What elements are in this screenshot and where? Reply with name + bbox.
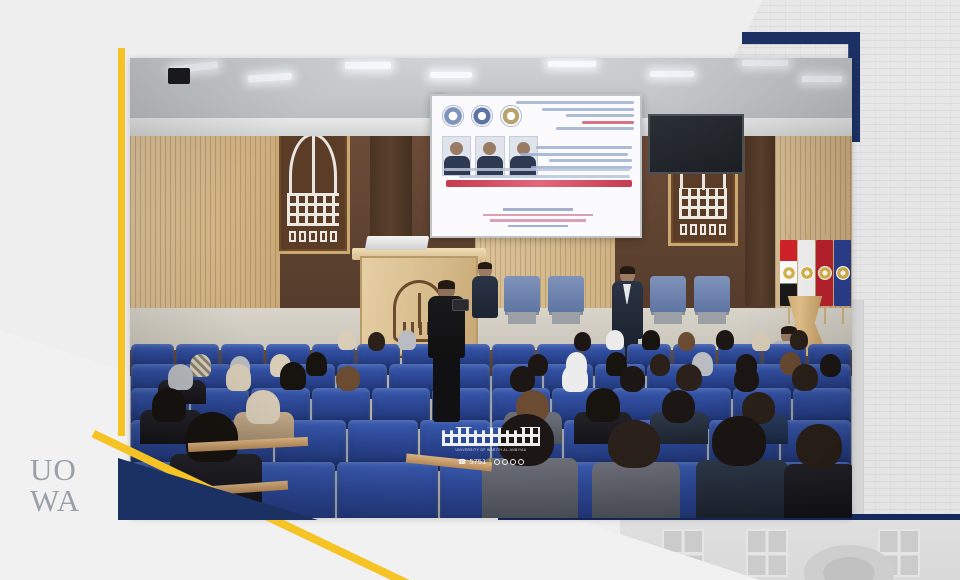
event-photograph: UNIVERSITY OF WARITH AL-ANBIYAA ☎ 5751 | <box>130 58 852 518</box>
audience-head <box>226 364 251 391</box>
audience-shoulders <box>592 462 680 518</box>
presenter-near-podium <box>472 262 498 318</box>
ceiling-light <box>548 61 596 67</box>
slide-logo-icon <box>471 105 493 127</box>
audience-head <box>562 364 588 392</box>
seat <box>312 388 370 424</box>
audience-head <box>246 390 280 424</box>
audience-head <box>796 424 842 468</box>
watermark-socials <box>494 459 524 465</box>
camera <box>452 299 469 311</box>
youtube-icon[interactable] <box>518 459 524 465</box>
audience-head <box>306 352 327 376</box>
telegram-icon[interactable] <box>510 459 516 465</box>
blue-institution-flag <box>834 240 851 306</box>
audience-head <box>510 366 535 392</box>
stage-chair <box>650 276 686 312</box>
watermark-contact: ☎ 5751 | <box>435 457 547 466</box>
slide-highlight-title <box>446 180 632 187</box>
projection-screen <box>430 94 642 238</box>
audience-head <box>606 330 624 350</box>
instagram-icon[interactable] <box>502 459 508 465</box>
audience-shoulders <box>784 464 852 518</box>
watermark-divider: | <box>489 457 491 466</box>
audience-head <box>792 364 818 391</box>
audience-head <box>734 366 759 392</box>
audience-head <box>398 330 416 350</box>
stage-chair <box>504 276 540 312</box>
slide-logo-icon <box>442 105 464 127</box>
ceiling-light <box>802 76 842 82</box>
seat <box>337 462 438 518</box>
audience-head <box>574 332 591 351</box>
audience-head <box>716 330 734 350</box>
slide-header-text <box>516 101 634 141</box>
ceiling-light <box>345 62 391 69</box>
audience-head <box>678 332 695 351</box>
dark-wood-divider-right <box>745 106 777 306</box>
ceiling-speaker-box <box>168 68 190 84</box>
audience-head <box>190 354 211 377</box>
uowa-monogram: UO WA <box>30 456 80 515</box>
poster-canvas: UNIVERSITY OF WARITH AL-ANBIYAA ☎ 5751 |… <box>0 0 960 580</box>
audience-head <box>586 388 620 422</box>
uowa-line-1: UO <box>30 456 80 484</box>
audience-head <box>650 354 670 376</box>
audience-head <box>790 330 808 350</box>
audience-head <box>338 330 356 350</box>
laptop <box>365 236 429 250</box>
ceiling-light <box>430 72 472 78</box>
audience-head <box>168 364 193 390</box>
audience-head <box>186 412 238 462</box>
audience-head <box>642 330 660 350</box>
wall-display-board <box>648 114 744 174</box>
audience-head <box>752 332 770 351</box>
calligraphy-panel-left <box>276 122 350 254</box>
audience-head <box>676 364 702 391</box>
watermark-phone: 5751 <box>469 457 486 466</box>
slide-footer-text <box>450 208 626 230</box>
seat <box>372 388 430 424</box>
ceiling-light <box>650 71 694 77</box>
audience-head <box>368 332 385 351</box>
audience-head <box>336 366 360 391</box>
audience-head <box>608 420 660 468</box>
ceiling-light <box>742 60 788 66</box>
phone-icon: ☎ <box>458 458 467 466</box>
audience-head <box>662 390 695 423</box>
facebook-icon[interactable] <box>494 459 500 465</box>
university-arabic-logo-icon <box>442 427 540 446</box>
seat <box>793 388 851 424</box>
watermark-latin-name: UNIVERSITY OF WARITH AL-ANBIYAA <box>435 448 547 453</box>
audience-head <box>152 388 186 422</box>
uowa-line-2: WA <box>30 487 80 515</box>
audience-head <box>280 362 306 390</box>
audience-shoulders <box>696 460 788 518</box>
cameraman-in-black <box>425 280 467 428</box>
stage-chair <box>694 276 730 312</box>
yellow-vertical-stripe <box>118 48 125 436</box>
photo-watermark: UNIVERSITY OF WARITH AL-ANBIYAA ☎ 5751 | <box>435 427 547 466</box>
audience-head <box>620 366 645 392</box>
audience-shoulders <box>482 458 578 518</box>
audience-head <box>820 354 841 377</box>
stage-chair <box>548 276 584 312</box>
audience-head <box>712 416 766 466</box>
